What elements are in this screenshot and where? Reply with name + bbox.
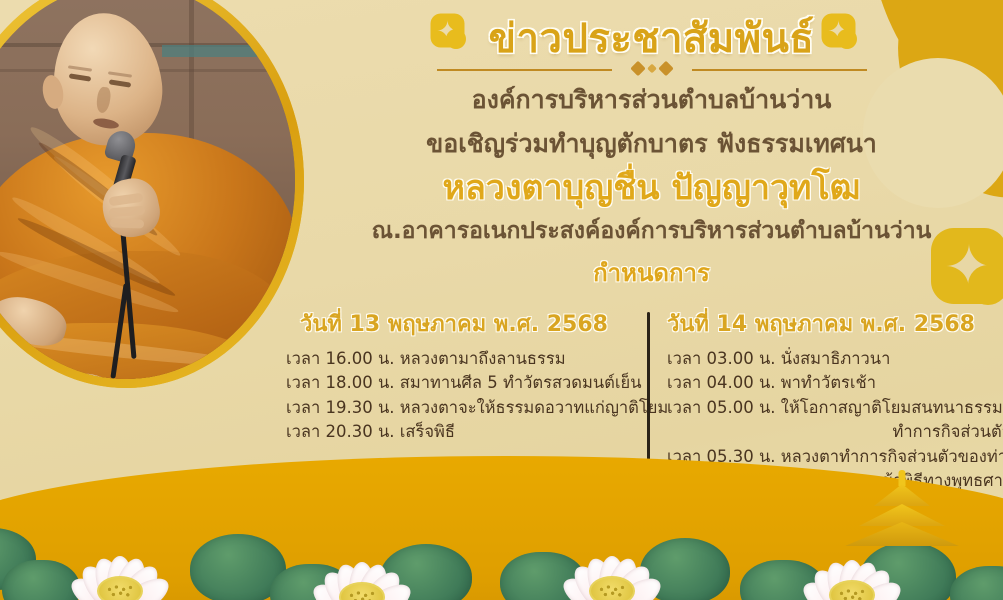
lotus-flower [560,526,664,600]
lotus-flower [310,532,414,600]
header-block: ข่าวประชาสัมพันธ์ องค์การบริหารส่วนตำบลบ… [300,16,1003,292]
page-title: ข่าวประชาสัมพันธ์ [489,16,815,62]
diamond-ornament-icon [439,22,473,56]
agenda-label: กำหนดการ [300,253,1003,292]
list-item: เวลา 20.30 น. เสร็จพิธี [286,420,641,444]
title-row: ข่าวประชาสัมพันธ์ [300,16,1003,62]
list-item: เวลา 05.00 น. ให้โอกาสญาติโยมสนทนาธรรมแล… [667,396,1003,420]
lotus-flower [68,526,172,600]
photo-wall-accent [162,45,257,57]
announcement-poster: ข่าวประชาสัมพันธ์ องค์การบริหารส่วนตำบลบ… [0,0,1003,600]
monk-name: หลวงตาบุญชื่น ปัญญาวุทโฒ [300,168,1003,209]
organization-name: องค์การบริหารส่วนตำบลบ้านว่าน [300,84,1003,115]
temple-roof-icon [843,472,961,552]
diamond-ornament-icon [830,22,864,56]
venue-text: ณ.อาคารอเนกประสงค์องค์การบริหารส่วนตำบลบ… [300,217,1003,246]
list-item: เวลา 18.00 น. สมาทานศีล 5 ทำวัตรสวดมนต์เ… [286,371,641,395]
list-item: เวลา 04.00 น. พาทำวัตรเช้า [667,371,1003,395]
day1-item-list: เวลา 16.00 น. หลวงตามาถึงลานธรรม เวลา 18… [286,347,641,445]
lotus-leaf [950,566,1003,600]
monk-photo [0,0,295,379]
list-item-continuation: ทำการกิจส่วนตัว [667,420,1003,444]
day1-heading: วันที่ 13 พฤษภาคม พ.ศ. 2568 [286,306,641,341]
list-item: เวลา 16.00 น. หลวงตามาถึงลานธรรม [286,347,641,371]
invitation-text: ขอเชิญร่วมทำบุญตักบาตร ฟังธรรมเทศนา [300,128,1003,159]
title-divider [437,63,867,77]
list-item: เวลา 03.00 น. นั่งสมาธิภาวนา [667,347,1003,371]
monk-finger [110,218,144,228]
day2-heading: วันที่ 14 พฤษภาคม พ.ศ. 2568 [667,306,1003,341]
monk-photo-frame [0,0,304,388]
list-item: เวลา 19.30 น. หลวงตาจะให้ธรรมดอวาทแก่ญาต… [286,396,641,420]
